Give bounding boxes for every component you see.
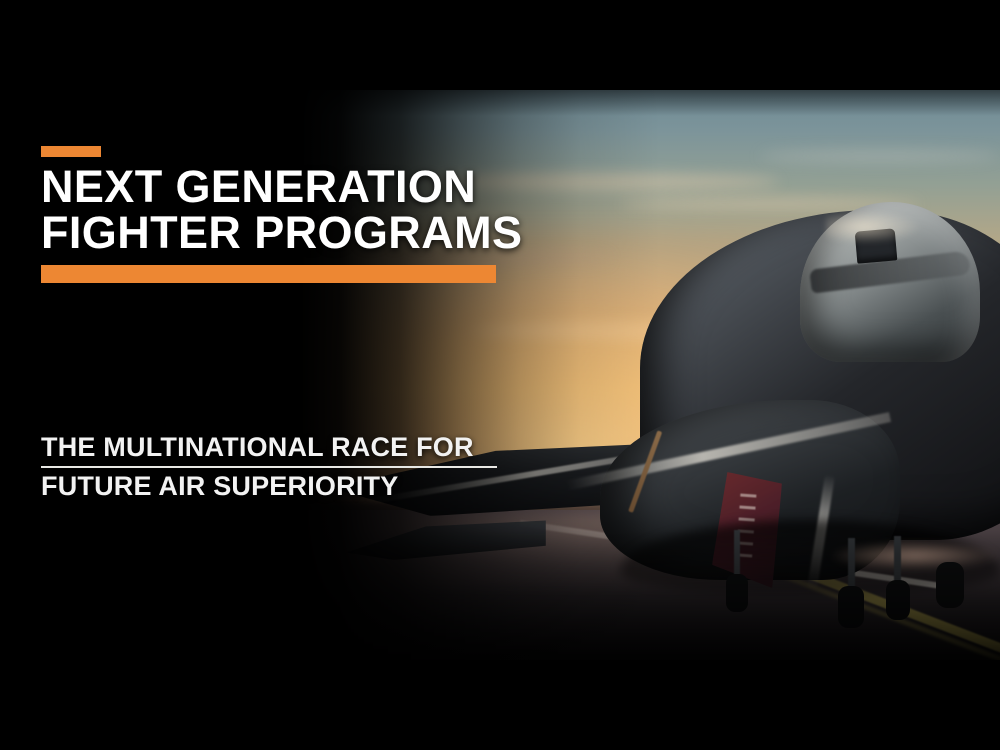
title-slide: NEXT GENERATION FIGHTER PROGRAMS THE MUL…	[0, 0, 1000, 750]
title-block: NEXT GENERATION FIGHTER PROGRAMS	[41, 146, 522, 283]
accent-bar-small	[41, 146, 101, 157]
subtitle-line-2: FUTURE AIR SUPERIORITY	[41, 471, 497, 501]
accent-bar-large	[41, 265, 496, 283]
subtitle-block: THE MULTINATIONAL RACE FOR FUTURE AIR SU…	[41, 432, 497, 501]
page-title-line-2: FIGHTER PROGRAMS	[41, 210, 522, 255]
subtitle-line-1: THE MULTINATIONAL RACE FOR	[41, 432, 497, 462]
subtitle-divider-rule	[41, 466, 497, 468]
page-title-line-1: NEXT GENERATION	[41, 164, 522, 209]
